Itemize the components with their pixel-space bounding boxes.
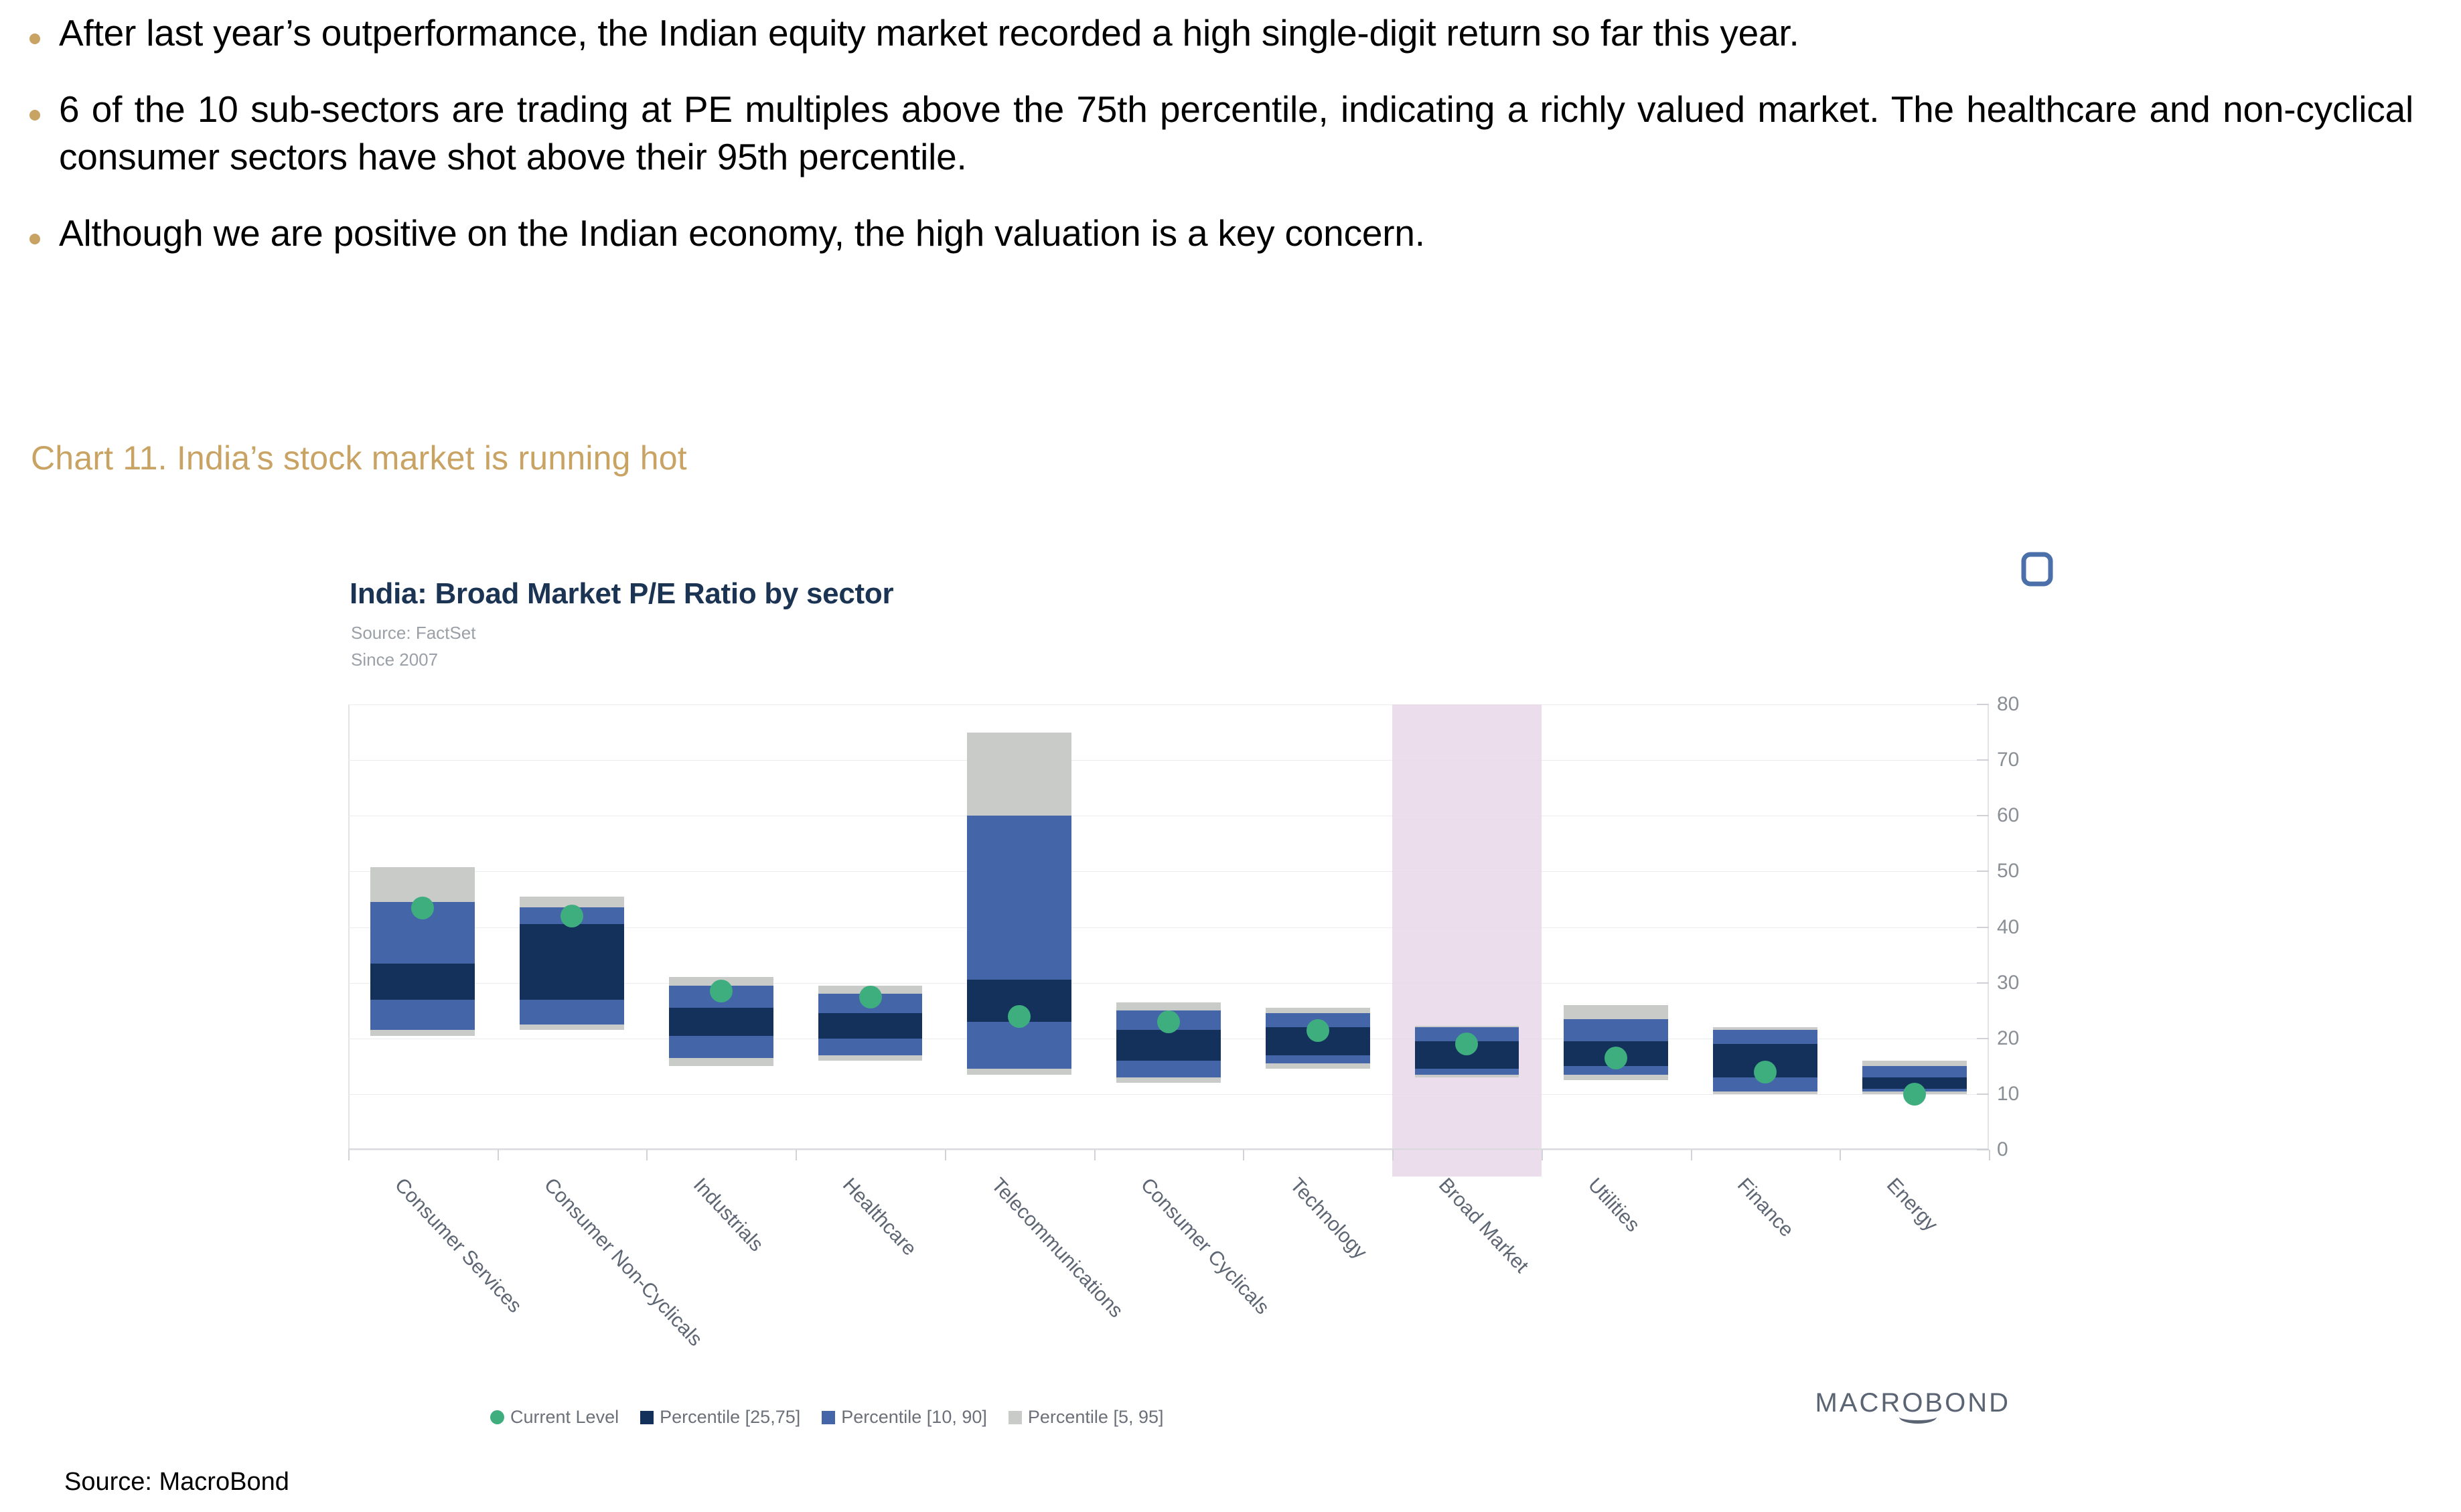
macrobond-wordmark: MACROBOND bbox=[1815, 1388, 2010, 1418]
legend-swatch-icon bbox=[490, 1410, 504, 1424]
percentile-25-75-segment bbox=[520, 924, 624, 999]
legend-swatch-icon bbox=[822, 1411, 835, 1424]
x-axis-label: Energy bbox=[1882, 1174, 1942, 1236]
legend-label: Percentile [5, 95] bbox=[1028, 1407, 1164, 1428]
current-level-marker bbox=[1754, 1061, 1777, 1083]
x-axis-label: Healthcare bbox=[838, 1174, 921, 1260]
y-tick-mark bbox=[1977, 871, 1989, 872]
legend-label: Current Level bbox=[510, 1407, 619, 1428]
y-tick-label: 40 bbox=[1997, 916, 2019, 939]
x-axis-label: Technology bbox=[1285, 1174, 1371, 1264]
list-item: 6 of the 10 sub-sectors are trading at P… bbox=[29, 86, 2413, 181]
macrobond-corner-icon bbox=[2020, 549, 2057, 591]
y-tick-mark bbox=[1977, 1038, 1989, 1039]
legend-label: Percentile [25,75] bbox=[660, 1407, 800, 1428]
bar-group[interactable] bbox=[1266, 704, 1370, 1150]
x-tick-mark bbox=[1691, 1150, 1692, 1160]
list-item: Although we are positive on the Indian e… bbox=[29, 210, 2413, 258]
gridline bbox=[348, 1150, 1989, 1150]
y-tick-label: 20 bbox=[1997, 1027, 2019, 1050]
x-axis-label: Finance bbox=[1732, 1174, 1798, 1241]
x-tick-mark bbox=[646, 1150, 648, 1160]
percentile-25-75-segment bbox=[370, 964, 475, 1000]
current-level-marker bbox=[859, 986, 882, 1008]
x-axis-label: Consumer Non-Cyclicals bbox=[539, 1174, 706, 1351]
y-tick-mark bbox=[1977, 815, 1989, 816]
x-tick-mark bbox=[1542, 1150, 1543, 1160]
y-tick-label: 80 bbox=[1997, 693, 2019, 716]
bar-group[interactable] bbox=[1564, 704, 1668, 1150]
bullet-dot-icon bbox=[29, 110, 40, 121]
y-tick-label: 10 bbox=[1997, 1083, 2019, 1106]
bar-group[interactable] bbox=[818, 704, 923, 1150]
chart-legend: Current LevelPercentile [25,75]Percentil… bbox=[490, 1407, 1179, 1428]
legend-label: Percentile [10, 90] bbox=[841, 1407, 987, 1428]
y-tick-mark bbox=[1977, 759, 1989, 761]
current-level-marker bbox=[1455, 1033, 1478, 1055]
x-axis-label: Telecommunications bbox=[986, 1174, 1127, 1322]
x-axis-baseline bbox=[348, 1148, 1989, 1150]
legend-item[interactable]: Percentile [10, 90] bbox=[822, 1407, 987, 1428]
bullet-text: After last year’s outperformance, the In… bbox=[59, 9, 2413, 58]
bullet-dot-icon bbox=[29, 234, 40, 244]
current-level-marker bbox=[561, 905, 583, 927]
bar-group[interactable] bbox=[1862, 704, 1967, 1150]
y-tick-label: 30 bbox=[1997, 972, 2019, 994]
y-tick-mark bbox=[1977, 1149, 1989, 1150]
percentile-10-90-segment bbox=[967, 816, 1071, 1069]
bar-group[interactable] bbox=[520, 704, 624, 1150]
bar-group[interactable] bbox=[1713, 704, 1817, 1150]
chart-panel: India: Broad Market P/E Ratio by sector … bbox=[335, 562, 2089, 1446]
chart-title: India: Broad Market P/E Ratio by sector bbox=[350, 577, 893, 611]
percentile-25-75-segment bbox=[669, 1008, 773, 1036]
current-level-marker bbox=[1008, 1005, 1031, 1028]
x-axis-label: Consumer Services bbox=[390, 1174, 526, 1318]
x-tick-mark bbox=[796, 1150, 797, 1160]
bar-group[interactable] bbox=[370, 704, 475, 1150]
y-tick-mark bbox=[1977, 927, 1989, 928]
x-tick-mark bbox=[1243, 1150, 1244, 1160]
y-tick-mark bbox=[1977, 704, 1989, 705]
x-axis-label: Consumer Cyclicals bbox=[1136, 1174, 1274, 1319]
y-tick-mark bbox=[1977, 1093, 1989, 1095]
x-axis-label: Utilities bbox=[1583, 1174, 1644, 1237]
chart-source-label: Source: FactSet bbox=[351, 623, 475, 644]
current-level-marker bbox=[1307, 1019, 1329, 1042]
x-tick-mark bbox=[1094, 1150, 1096, 1160]
x-tick-mark bbox=[348, 1150, 350, 1160]
y-tick-label: 0 bbox=[1997, 1138, 2008, 1161]
y-tick-label: 50 bbox=[1997, 860, 2019, 883]
x-axis-label: Industrials bbox=[688, 1174, 767, 1256]
bar-group[interactable] bbox=[1116, 704, 1221, 1150]
legend-item[interactable]: Current Level bbox=[490, 1407, 619, 1428]
bar-group[interactable] bbox=[1415, 704, 1519, 1150]
x-tick-mark bbox=[1392, 1150, 1394, 1160]
y-tick-label: 60 bbox=[1997, 804, 2019, 827]
y-tick-mark bbox=[1977, 982, 1989, 984]
current-level-marker bbox=[1903, 1083, 1926, 1106]
current-level-marker bbox=[710, 980, 733, 1002]
x-tick-mark bbox=[945, 1150, 946, 1160]
x-tick-mark bbox=[498, 1150, 499, 1160]
current-level-marker bbox=[1605, 1047, 1627, 1069]
percentile-25-75-segment bbox=[818, 1013, 923, 1038]
bullet-text: Although we are positive on the Indian e… bbox=[59, 210, 2413, 258]
y-tick-label: 70 bbox=[1997, 749, 2019, 771]
chart-caption: Chart 11. India’s stock market is runnin… bbox=[31, 439, 687, 477]
current-level-marker bbox=[411, 897, 434, 919]
bullet-list: After last year’s outperformance, the In… bbox=[29, 9, 2413, 285]
legend-swatch-icon bbox=[1009, 1411, 1022, 1424]
chart-period-label: Since 2007 bbox=[351, 650, 438, 670]
percentile-25-75-segment bbox=[1116, 1030, 1221, 1061]
current-level-marker bbox=[1157, 1010, 1180, 1033]
bullet-dot-icon bbox=[29, 33, 40, 44]
bar-group[interactable] bbox=[967, 704, 1071, 1150]
x-tick-mark bbox=[1989, 1150, 1990, 1160]
source-note: Source: MacroBond bbox=[64, 1468, 289, 1497]
bullet-text: 6 of the 10 sub-sectors are trading at P… bbox=[59, 86, 2413, 181]
plot-area: 01020304050607080 Consumer ServicesConsu… bbox=[348, 704, 1989, 1150]
list-item: After last year’s outperformance, the In… bbox=[29, 9, 2413, 58]
x-tick-mark bbox=[1840, 1150, 1841, 1160]
legend-item[interactable]: Percentile [25,75] bbox=[640, 1407, 800, 1428]
legend-item[interactable]: Percentile [5, 95] bbox=[1009, 1407, 1164, 1428]
x-axis-label: Broad Market bbox=[1434, 1174, 1534, 1278]
legend-swatch-icon bbox=[640, 1411, 654, 1424]
bar-group[interactable] bbox=[669, 704, 773, 1150]
